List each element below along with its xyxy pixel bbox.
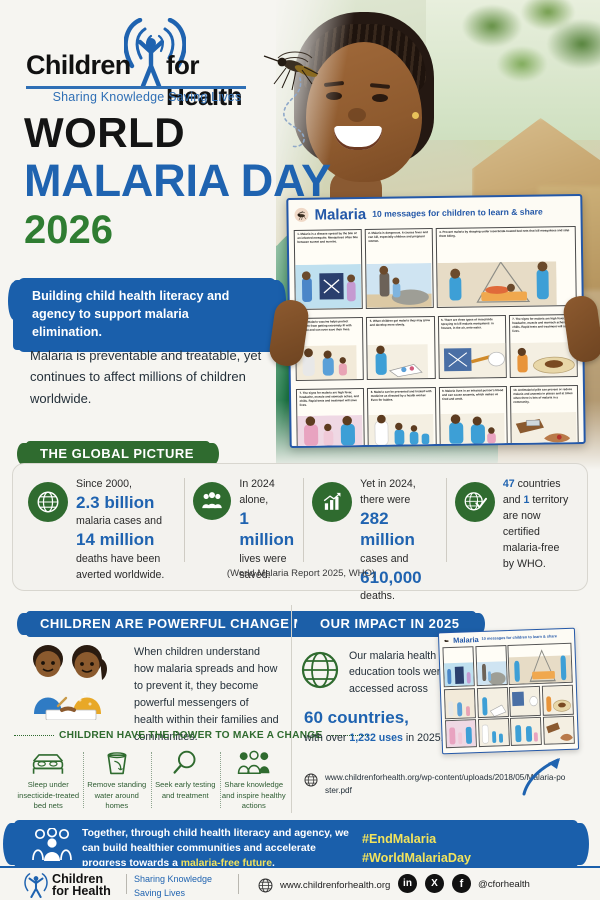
- hashtag-1: #EndMalaria: [362, 830, 471, 849]
- stat-pre: Since 2000,: [76, 478, 132, 490]
- poster-cell: 10. Antimalarial pills can prevent or re…: [510, 385, 579, 446]
- poster-cell: 3. Prevent malaria by sleeping under ins…: [436, 226, 577, 308]
- community-people-icon: [30, 828, 74, 862]
- mini-poster-row-1: [439, 643, 575, 688]
- action-item: Sleep under insecticide-treated bed nets: [14, 748, 83, 812]
- poster-cell-text: 6. There are three types of insecticide …: [438, 316, 504, 333]
- stat-item: In 2024 alone, 1 million lives were save…: [184, 476, 303, 583]
- impact-row: Our malaria health education tools were …: [300, 648, 450, 697]
- banner-text: Together, through child health literacy …: [82, 827, 350, 871]
- globe-icon: [300, 650, 340, 690]
- global-picture-source: (World Malaria Report 2025, WHO): [13, 568, 589, 579]
- title-line3: 2026: [24, 210, 113, 250]
- logo-person-icon: [138, 36, 164, 88]
- stat-item: Yet in 2024, there were 282 million case…: [303, 476, 446, 604]
- footer-divider: [238, 874, 239, 894]
- x-twitter-icon[interactable]: X: [425, 874, 444, 893]
- brand-tagline: Sharing Knowledge Saving Lives: [42, 90, 252, 104]
- brand-logo: Children for Health Sharing Knowledge Sa…: [26, 22, 246, 102]
- impact-uses-post: in 2025.: [403, 732, 444, 744]
- bed-net-icon: [16, 748, 81, 778]
- bottom-banner: Together, through child health literacy …: [14, 820, 578, 868]
- stat-value-1: 2.3 billion: [76, 492, 175, 513]
- poster-cell: 8. Malaria can be prevented and treated …: [367, 387, 436, 448]
- column-divider: [291, 605, 292, 813]
- facebook-glyph: f: [460, 878, 464, 890]
- footer-tagline-line1: Sharing Knowledge: [134, 873, 212, 887]
- banner-hashtags: #EndMalaria #WorldMalariaDay: [362, 830, 471, 867]
- hashtag-2: #WorldMalariaDay: [362, 849, 471, 868]
- poster-row-2: 4. The malaria vaccine helps protect chi…: [290, 314, 583, 386]
- stat-value-1: 1 million: [239, 508, 294, 551]
- brand-rule: [26, 86, 246, 89]
- stat-value-1: 282 million: [360, 508, 437, 551]
- title-line2: MALARIA DAY: [24, 158, 331, 203]
- stat-pre: In 2024 alone,: [239, 478, 274, 506]
- footer-website-row[interactable]: www.childrenforhealth.org: [258, 878, 390, 893]
- infographic-poster: Children for Health Sharing Knowledge Sa…: [0, 0, 600, 900]
- poster-cell: 6. There are three types of insecticide …: [437, 315, 506, 379]
- linkedin-glyph: in: [403, 878, 412, 889]
- footer-brand-part2: for Health: [52, 884, 111, 898]
- people-group-icon: [193, 482, 231, 520]
- curved-arrow-icon: [520, 752, 566, 796]
- malaria-poster-thumbnail[interactable]: Malaria 10 messages for children to lear…: [438, 628, 579, 755]
- footer-divider: [126, 874, 127, 894]
- poster-row-3: 7. The signs for malaria are high fever,…: [291, 385, 584, 448]
- poster-cell-text: 9. Malaria lives in an infected person's…: [439, 387, 505, 404]
- stat-text: 47 countries and 1 territory are now cer…: [503, 476, 572, 573]
- footer-website-url[interactable]: www.childrenforhealth.org: [280, 880, 390, 891]
- poster-cell-text: 7. The signs for malaria are high fever,…: [297, 389, 364, 410]
- mini-poster-subtitle: 10 messages for children to learn & shar…: [482, 634, 557, 641]
- two-children-writing-icon: [18, 642, 124, 720]
- stat-pre: Yet in 2024, there were: [360, 478, 416, 506]
- poster-cell-text: 8. Malaria can be prevented and treated …: [368, 388, 434, 405]
- footer-logo: Children for Health: [24, 872, 120, 898]
- footer-handle: @cforhealth: [478, 879, 530, 890]
- action-label: Remove standing water around homes: [85, 780, 150, 812]
- footer-tagline: Sharing Knowledge Saving Lives: [134, 873, 212, 900]
- stat-text: Yet in 2024, there were 282 million case…: [360, 476, 437, 604]
- stat-item: Since 2000, 2.3 billion malaria cases an…: [19, 476, 184, 583]
- globe-link-icon: [304, 773, 318, 787]
- linkedin-icon[interactable]: in: [398, 874, 417, 893]
- poster-subtitle: 10 messages for children to learn & shar…: [372, 207, 543, 219]
- poster-cell: 7. The signs for malaria are high fever,…: [296, 388, 365, 448]
- action-item: Remove standing water around homes: [83, 748, 152, 812]
- growth-chart-icon: [312, 482, 352, 522]
- change-makers-divider: CHILDREN HAVE THE POWER TO MAKE A CHANGE: [14, 730, 286, 741]
- stat-text: Since 2000, 2.3 billion malaria cases an…: [76, 476, 175, 583]
- poster-cell: 1. Malaria is a disease spread by the bi…: [294, 229, 363, 310]
- footer: Children for Health Sharing Knowledge Sa…: [0, 868, 600, 900]
- action-label: Sleep under insecticide-treated bed nets: [16, 780, 81, 812]
- people-share-icon: [222, 748, 287, 778]
- mini-poster-row-2: [441, 684, 577, 719]
- poster-cell-text: 2. Malaria is dangerous. It causes fever…: [366, 229, 432, 246]
- callout-box: Building child health literacy and agenc…: [18, 278, 276, 352]
- stat-mid: malaria cases and: [76, 515, 162, 527]
- poster-row-1: 1. Malaria is a disease spread by the bi…: [289, 226, 582, 315]
- action-label: Seek early testing and treatment: [153, 780, 218, 801]
- mosquito-icon: [443, 637, 450, 644]
- mini-poster-row-3: [442, 716, 578, 749]
- impact-text: Our malaria health education tools were …: [349, 648, 450, 697]
- action-item: Seek early testing and treatment: [151, 748, 220, 812]
- footer-socials: in X f: [398, 874, 471, 893]
- change-makers-divider-label: CHILDREN HAVE THE POWER TO MAKE A CHANGE: [59, 730, 323, 741]
- mosquito-icon: [258, 40, 328, 150]
- global-picture-card: Since 2000, 2.3 billion malaria cases an…: [12, 463, 588, 591]
- globe-icon: [28, 482, 68, 522]
- poster-cell: 2. Malaria is dangerous. It causes fever…: [365, 228, 434, 309]
- lead-paragraph: Malaria is preventable and treatable, ye…: [30, 345, 282, 409]
- stat-text: In 2024 alone, 1 million lives were save…: [239, 476, 294, 583]
- action-label: Share knowledge and inspire healthy acti…: [222, 780, 287, 812]
- poster-header: Malaria 10 messages for children to lear…: [288, 196, 580, 230]
- action-item: Share knowledge and inspire healthy acti…: [220, 748, 289, 812]
- poster-cell: 5. When children get malaria they may gr…: [366, 316, 435, 380]
- poster-cell: 9. Malaria lives in an infected person's…: [438, 386, 507, 447]
- stat-value-2: 14 million: [76, 529, 175, 550]
- stat-mid: cases and: [360, 553, 408, 565]
- poster-cell-text: 1. Malaria is a disease spread by the bi…: [295, 230, 361, 247]
- radio-waves-person-icon: [24, 872, 48, 898]
- magnifier-icon: [153, 748, 218, 778]
- stat-post: deaths.: [360, 590, 395, 602]
- globe-check-icon: [455, 482, 495, 522]
- poster-cell-text: 3. Prevent malaria by sleeping under ins…: [437, 227, 575, 241]
- stat-item: 47 countries and 1 territory are now cer…: [446, 476, 581, 573]
- action-list: Sleep under insecticide-treated bed nets…: [14, 748, 288, 812]
- title-line1: WORLD: [24, 112, 185, 154]
- facebook-icon[interactable]: f: [452, 874, 471, 893]
- poster-cell-text: 10. Antimalarial pills can prevent or re…: [511, 386, 578, 407]
- globe-icon: [258, 878, 273, 893]
- mini-poster-title: Malaria: [453, 635, 479, 645]
- poster-mosquito-icon: [294, 208, 308, 222]
- water-bucket-icon: [85, 748, 150, 778]
- impact-uses-pre: with over: [304, 732, 349, 744]
- impact-uses-number: 1,232 uses: [349, 732, 403, 744]
- brand-name-part1: Children: [26, 50, 131, 81]
- footer-tagline-line2: Saving Lives: [134, 887, 212, 900]
- poster-cell-text: 5. When children get malaria they may gr…: [367, 317, 433, 330]
- poster-title: Malaria: [314, 205, 366, 223]
- impact-countries: 60 countries,: [304, 708, 409, 728]
- malaria-poster-held[interactable]: Malaria 10 messages for children to lear…: [286, 194, 585, 448]
- x-glyph: X: [431, 878, 438, 889]
- stat-value-1: 47: [503, 478, 515, 490]
